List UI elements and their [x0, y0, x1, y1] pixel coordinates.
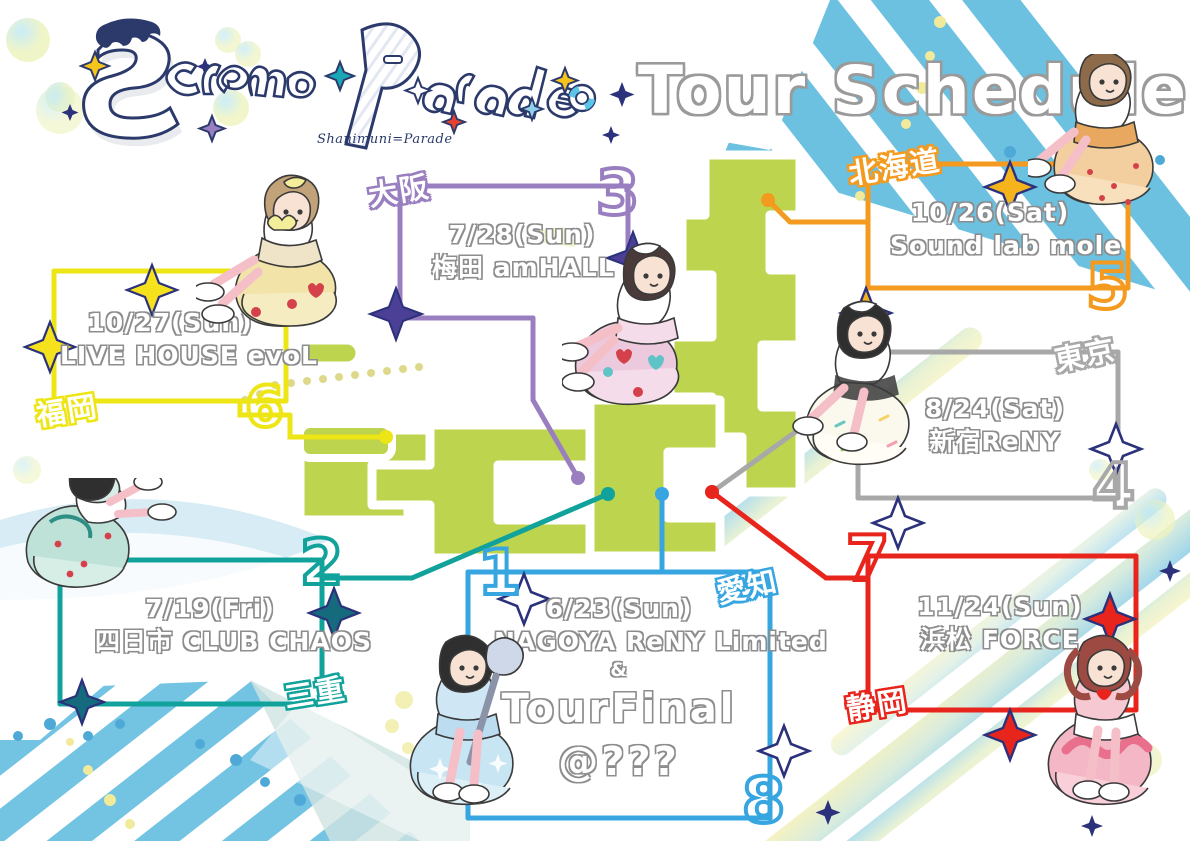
- map-pin-fukuoka: [379, 430, 393, 444]
- map-pin-mie: [601, 487, 615, 501]
- event-date-shizuoka: 11/24(Sun): [900, 590, 1100, 623]
- character-white-macaron: [792, 300, 942, 480]
- event-number-fukuoka: 6: [245, 380, 284, 436]
- character-pink-macaron: [562, 240, 702, 420]
- event-number-tokyo: 4: [1092, 456, 1135, 518]
- map-pin-hokkaido: [761, 193, 775, 207]
- character-orange-macaron: [1028, 54, 1178, 224]
- event-number-hokkaido: 5: [1086, 256, 1129, 318]
- character-yellow-macaron: [196, 164, 356, 344]
- character-mint-macaron: [22, 478, 182, 648]
- map-pin-aichi: [655, 487, 669, 501]
- event-venue-hokkaido: Sound lab mole: [890, 229, 1090, 262]
- character-blue-macaron: [404, 630, 554, 820]
- map-pin-osaka: [571, 471, 585, 485]
- event-number-mie: 2: [300, 532, 343, 594]
- event-number-osaka: 3: [596, 162, 639, 224]
- event-date-aichi: 6/23(Sun): [494, 592, 744, 625]
- character-strawberry-macaron: [1042, 630, 1190, 820]
- tour-schedule-poster: Shanimuni=Parade Tour Schedule: [0, 0, 1190, 841]
- event-number-shizuoka: 7: [846, 528, 889, 590]
- map-pin-shizuoka: [705, 485, 719, 499]
- event-number-aichi-final: 8: [742, 770, 785, 832]
